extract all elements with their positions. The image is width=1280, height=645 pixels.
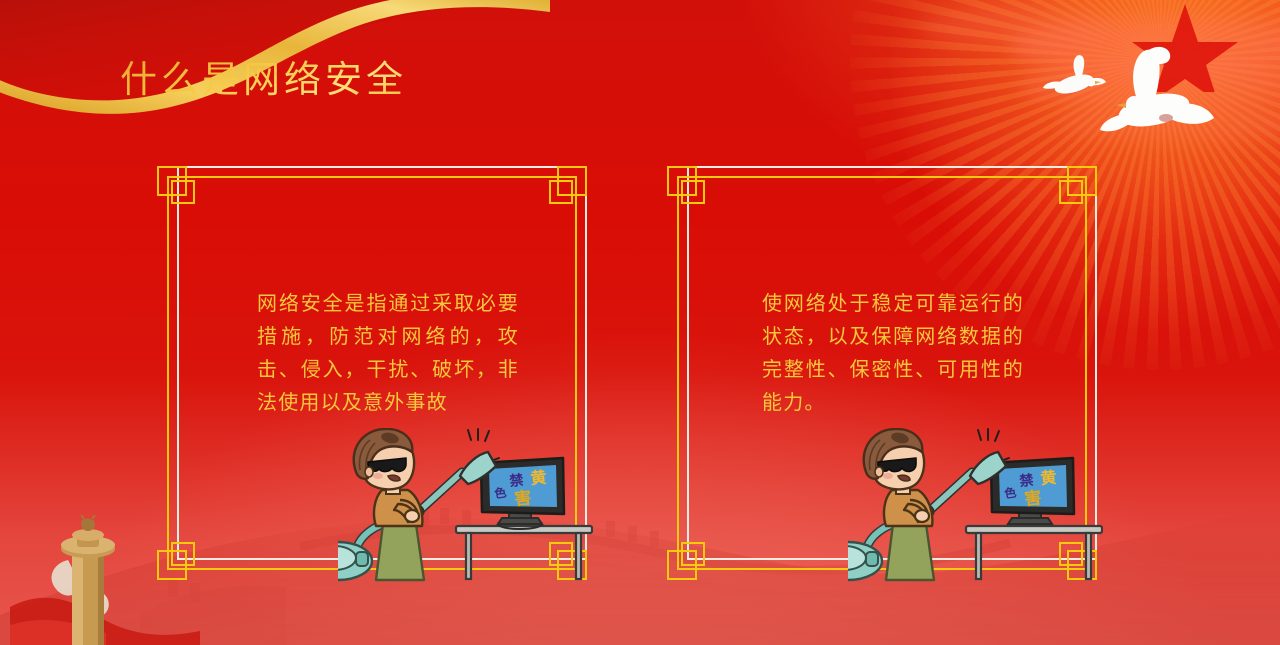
- desk-icon: [456, 526, 592, 579]
- illustration-woman-vacuuming-monitor-right: 色 禁 黄 害: [848, 428, 1103, 583]
- desk-icon: [966, 526, 1102, 579]
- svg-text:禁: 禁: [509, 472, 525, 490]
- frame-corner-top-left: [667, 166, 697, 196]
- svg-text:色: 色: [1003, 484, 1017, 501]
- content-panel-left: 网络安全是指通过采取必要措施，防范对网络的，攻击、侵入，干扰、破坏，非法使用以及…: [157, 166, 587, 580]
- svg-text:黄: 黄: [1040, 468, 1058, 488]
- frame-corner-top-right: [557, 166, 587, 196]
- white-doves-icon: [1042, 22, 1232, 140]
- panel-text-right: 使网络处于稳定可靠运行的状态，以及保障网络数据的完整性、保密性、可用性的能力。: [762, 288, 1024, 420]
- svg-text:害: 害: [1023, 487, 1042, 509]
- svg-text:黄: 黄: [530, 468, 548, 488]
- illustration-woman-vacuuming-monitor-left: 色 禁 黄 害: [338, 428, 593, 583]
- panel-text-left: 网络安全是指通过采取必要措施，防范对网络的，攻击、侵入，干扰、破坏，非法使用以及…: [257, 288, 519, 420]
- page-title: 什么是网络安全: [120, 58, 407, 104]
- slide-canvas: 什么是网络安全 网络安全是指通过采取必要措施，防范对网络的，攻击、侵入，干扰、破…: [0, 0, 1280, 645]
- svg-text:禁: 禁: [1019, 472, 1035, 490]
- content-panel-right: 使网络处于稳定可靠运行的状态，以及保障网络数据的完整性、保密性、可用性的能力。 …: [667, 166, 1097, 580]
- frame-corner-top-right: [1067, 166, 1097, 196]
- frame-corner-top-left: [157, 166, 187, 196]
- svg-text:害: 害: [513, 487, 532, 509]
- frame-corner-bottom-left: [667, 550, 697, 580]
- svg-text:色: 色: [493, 484, 507, 501]
- frame-corner-bottom-left: [157, 550, 187, 580]
